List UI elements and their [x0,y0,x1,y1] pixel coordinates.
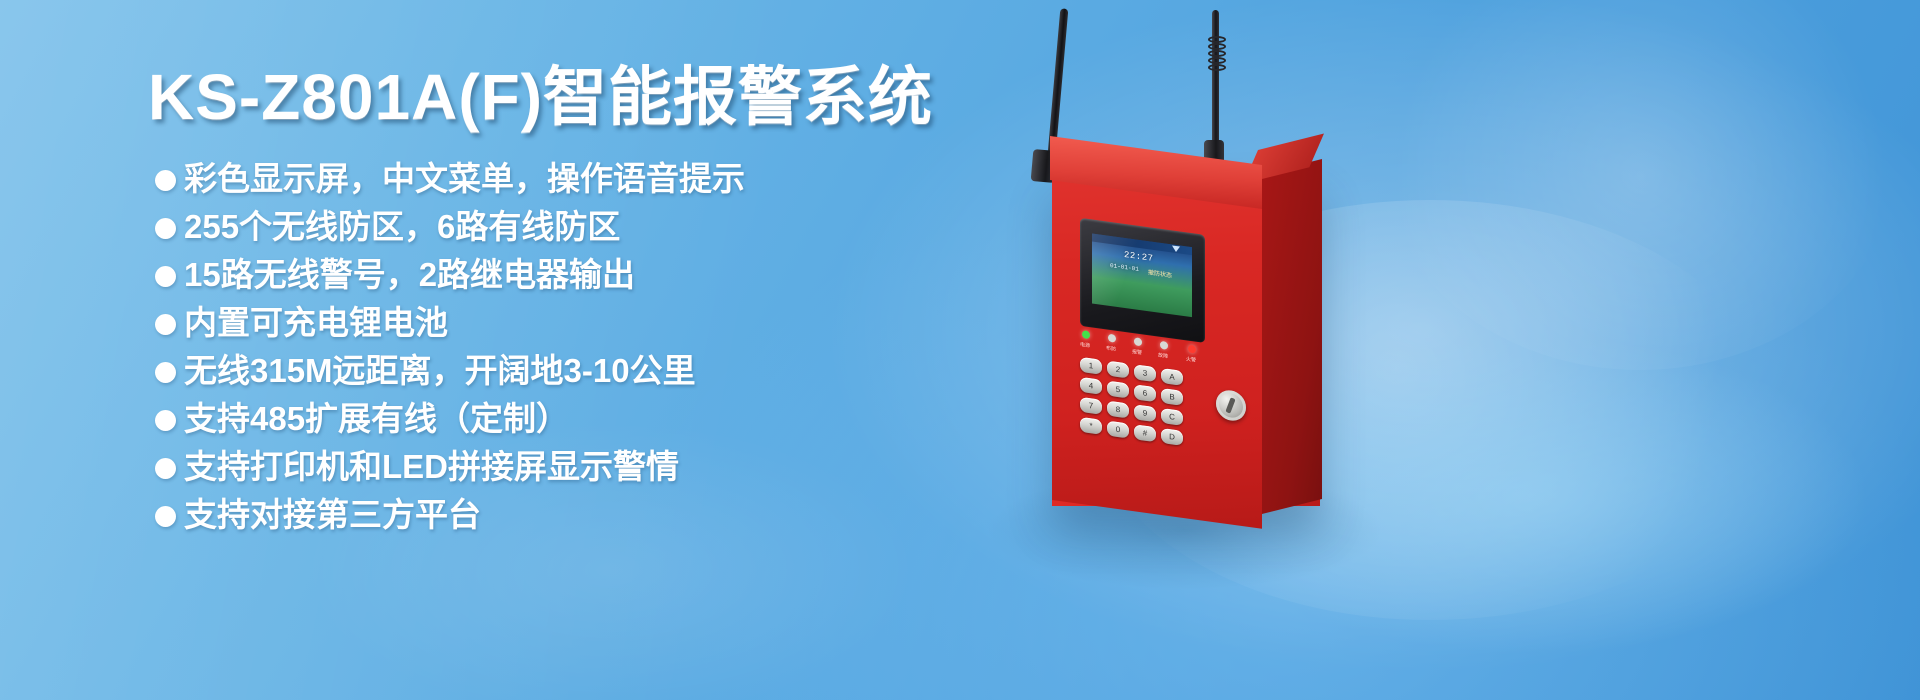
feature-item: 彩色显示屏，中文菜单，操作语音提示 [155,155,935,203]
feature-text: 彩色显示屏，中文菜单，操作语音提示 [184,155,745,203]
feature-item: 内置可充电锂电池 [155,299,935,347]
feature-list: 彩色显示屏，中文菜单，操作语音提示 255个无线防区，6路有线防区 15路无线警… [155,155,935,539]
key-3[interactable]: 3 [1134,364,1156,382]
filled-circle-bullet-icon [155,266,176,287]
feature-text: 15路无线警号，2路继电器输出 [184,251,635,299]
filled-circle-bullet-icon [155,410,176,431]
feature-text: 255个无线防区，6路有线防区 [184,203,620,251]
filled-circle-bullet-icon [155,362,176,383]
key-d[interactable]: D [1161,428,1183,446]
led-fault-icon [1160,341,1168,350]
key-4[interactable]: 4 [1080,377,1102,395]
key-7[interactable]: 7 [1080,397,1102,415]
feature-text: 内置可充电锂电池 [184,299,448,347]
feature-item: 255个无线防区，6路有线防区 [155,203,935,251]
control-panel-face: 22:27 01-01-01 撤防状态 电源 布防 报警 故障 火警 1 2 3… [1052,148,1262,529]
key-8[interactable]: 8 [1107,401,1129,419]
feature-text: 支持对接第三方平台 [184,491,481,539]
key-0[interactable]: 0 [1107,421,1129,439]
key-b[interactable]: B [1161,388,1183,406]
antenna-right-icon [1212,10,1219,150]
filled-circle-bullet-icon [155,170,176,191]
feature-text: 支持485扩展有线（定制） [184,395,569,443]
key-9[interactable]: 9 [1134,404,1156,422]
key-a[interactable]: A [1161,368,1183,386]
led-label: 电源 [1080,341,1090,349]
lcd-bezel: 22:27 01-01-01 撤防状态 [1080,218,1205,343]
led-label: 故障 [1158,352,1168,360]
led-label: 布防 [1106,344,1116,352]
product-banner: KS-Z801A(F)智能报警系统 彩色显示屏，中文菜单，操作语音提示 255个… [0,0,1920,700]
feature-text: 支持打印机和LED拼接屏显示警情 [184,443,679,491]
led-power-icon [1082,330,1090,339]
led-label: 报警 [1132,348,1142,356]
led-arm-icon [1108,334,1116,343]
enclosure-side [1258,159,1322,515]
feature-item: 支持对接第三方平台 [155,491,935,539]
filled-circle-bullet-icon [155,458,176,479]
lcd-screen[interactable]: 22:27 01-01-01 撤防状态 [1092,233,1192,317]
key-6[interactable]: 6 [1134,384,1156,402]
feature-item: 支持打印机和LED拼接屏显示警情 [155,443,935,491]
antenna-coil-icon [1208,36,1226,76]
key-2[interactable]: 2 [1107,361,1129,379]
feature-item: 15路无线警号，2路继电器输出 [155,251,935,299]
led-alarm-icon [1134,337,1142,346]
filled-circle-bullet-icon [155,506,176,527]
feature-item: 支持485扩展有线（定制） [155,395,935,443]
banner-copy: KS-Z801A(F)智能报警系统 彩色显示屏，中文菜单，操作语音提示 255个… [0,0,940,700]
key-hash[interactable]: # [1134,424,1156,442]
key-1[interactable]: 1 [1080,357,1102,375]
led-fire-icon [1188,345,1196,354]
filled-circle-bullet-icon [155,218,176,239]
key-5[interactable]: 5 [1107,381,1129,399]
keypad[interactable]: 1 2 3 A 4 5 6 B 7 8 9 C * 0 # D [1080,357,1204,454]
led-label: 火警 [1186,355,1196,363]
key-star[interactable]: * [1080,417,1102,435]
feature-item: 无线315M远距离，开阔地3-10公里 [155,347,935,395]
key-lock-icon[interactable] [1216,388,1246,422]
signal-icon [1172,245,1180,252]
filled-circle-bullet-icon [155,314,176,335]
feature-text: 无线315M远距离，开阔地3-10公里 [184,347,696,395]
key-c[interactable]: C [1161,408,1183,426]
banner-title: KS-Z801A(F)智能报警系统 [148,55,933,139]
